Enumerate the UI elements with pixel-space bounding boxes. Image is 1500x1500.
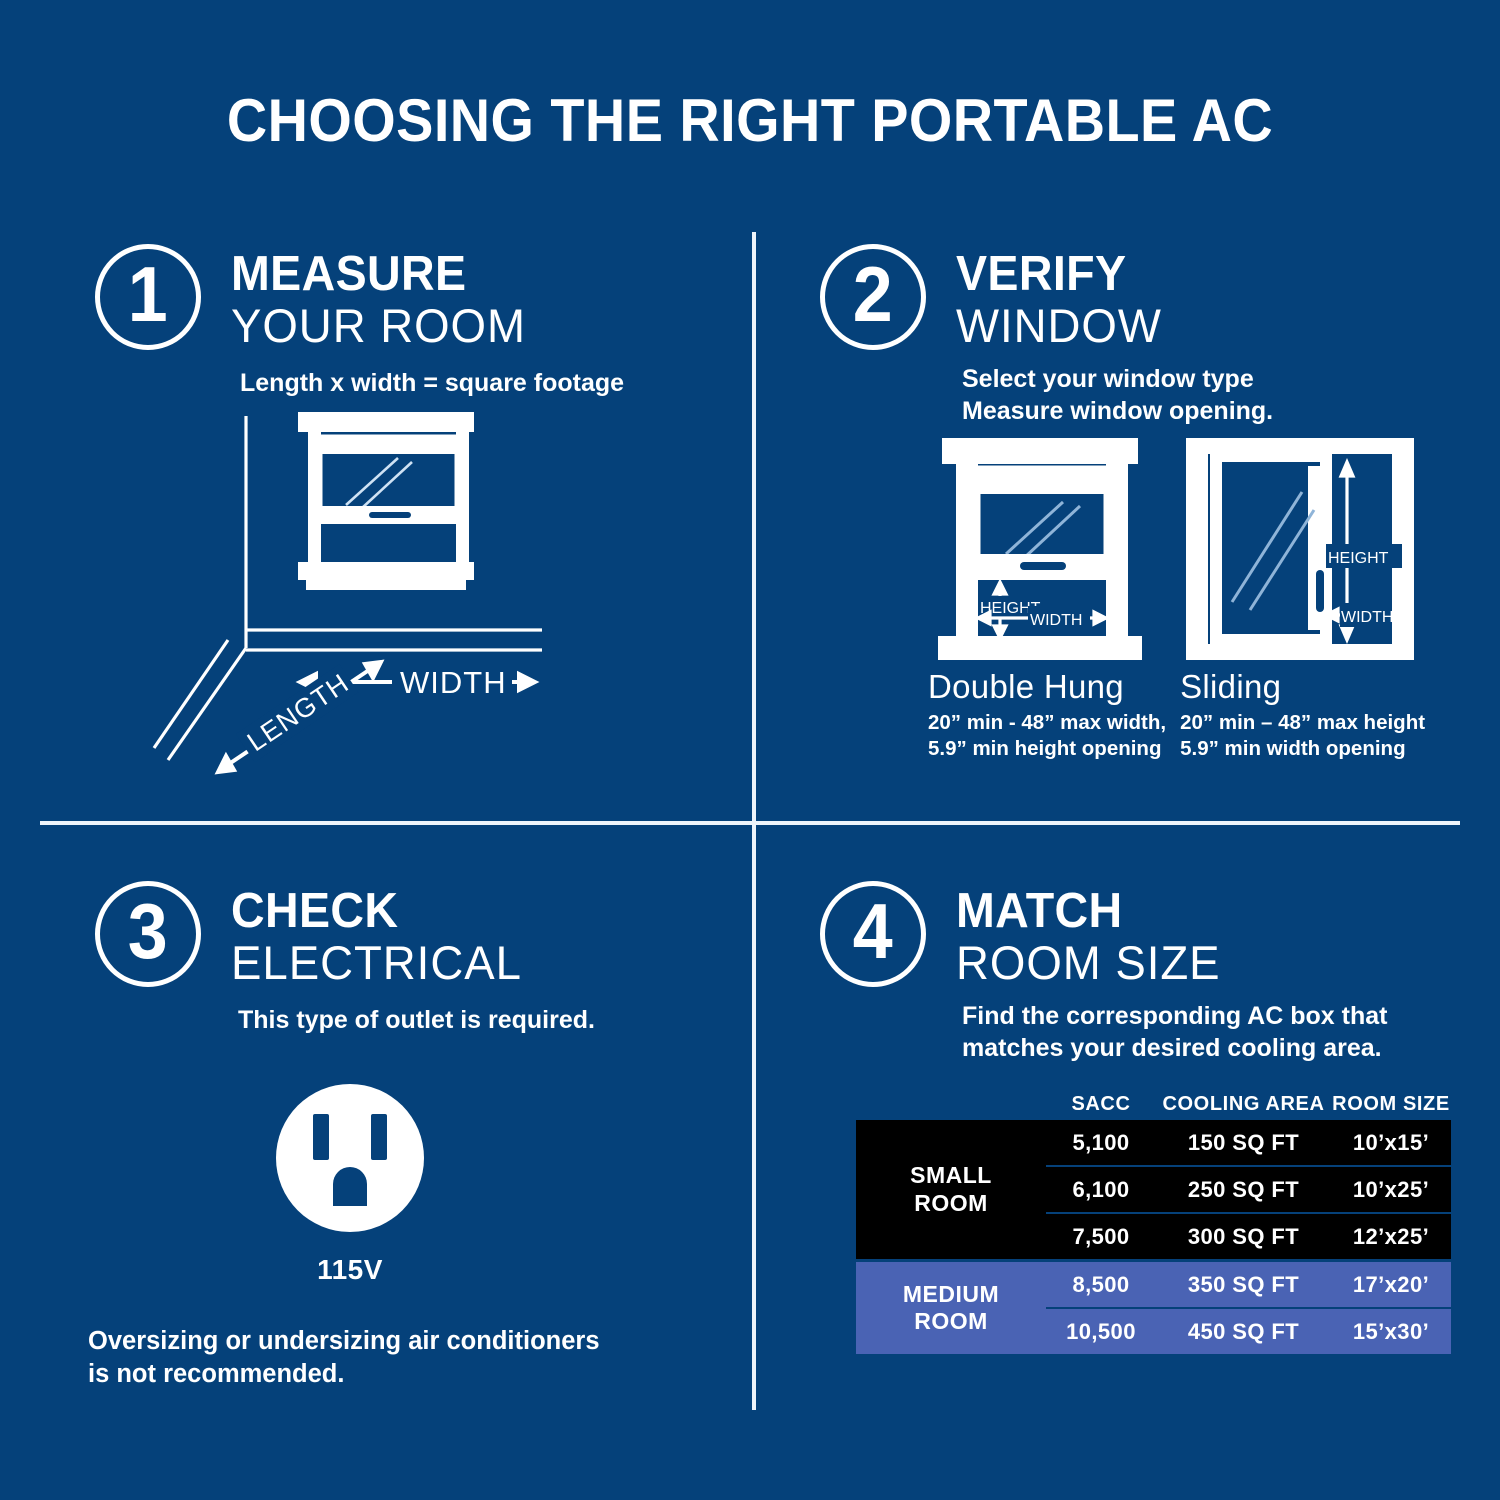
step-4-title-light: ROOM SIZE [956, 938, 1221, 987]
step-2-header: 2 VERIFY WINDOW [820, 244, 1168, 350]
cell-cooling-area: 450 SQ FT [1156, 1319, 1331, 1345]
step-2-title-block: VERIFY WINDOW [956, 244, 1168, 350]
group-rows-small-room: 5,100 150 SQ FT 10’x15’ 6,100 250 SQ FT … [1046, 1120, 1451, 1259]
cell-room-size: 10’x15’ [1331, 1130, 1451, 1156]
voltage-label: 115V [270, 1254, 430, 1286]
table-row[interactable]: 6,100 250 SQ FT 10’x25’ [1046, 1165, 1451, 1212]
step-2-title-light: WINDOW [956, 301, 1162, 350]
group-label-medium-room: MEDIUM ROOM [856, 1262, 1046, 1354]
step-3-title-block: CHECK ELECTRICAL [231, 881, 531, 987]
group-label-small-room-line-2: ROOM [910, 1190, 992, 1217]
oversizing-footnote-line-1: Oversizing or undersizing air conditione… [88, 1325, 600, 1358]
step-1-title-light: YOUR ROOM [231, 301, 526, 350]
step-3-subtitle: This type of outlet is required. [238, 1005, 595, 1036]
table-group-small-room[interactable]: SMALL ROOM 5,100 150 SQ FT 10’x15’ 6,100… [856, 1120, 1451, 1259]
double-hung-svg: HEIGHT WIDTH [928, 432, 1163, 664]
infographic-page: CHOOSING THE RIGHT PORTABLE AC 1 MEASURE… [0, 0, 1500, 1500]
step-number-badge-4: 4 [820, 881, 926, 987]
window-illustration [298, 412, 474, 590]
table-header-cooling-area: COOLING AREA [1156, 1093, 1331, 1116]
cell-sacc: 6,100 [1046, 1177, 1156, 1203]
group-label-small-room-line-1: SMALL [910, 1162, 992, 1189]
sliding-spec-line-1: 20” min – 48” max height [1180, 710, 1430, 736]
step-number-3: 3 [128, 892, 168, 970]
cell-cooling-area: 250 SQ FT [1156, 1177, 1331, 1203]
step-1-title-bold: MEASURE [231, 250, 520, 298]
step-1-title-block: MEASURE YOUR ROOM [231, 244, 535, 350]
table-row[interactable]: 8,500 350 SQ FT 17’x20’ [1046, 1262, 1451, 1307]
group-label-medium-room-line-1: MEDIUM [903, 1281, 999, 1308]
ac-sizing-table: SACC COOLING AREA ROOM SIZE SMALL ROOM 5… [856, 1093, 1451, 1357]
step-4-subtitle-line-2: matches your desired cooling area. [962, 1033, 1382, 1064]
cell-cooling-area: 150 SQ FT [1156, 1130, 1331, 1156]
step-number-1: 1 [128, 255, 168, 333]
cell-sacc: 7,500 [1046, 1224, 1156, 1250]
step-3-header: 3 CHECK ELECTRICAL [95, 881, 531, 987]
oversizing-footnote-line-2: is not recommended. [88, 1358, 600, 1391]
double-hung-spec-line-2: 5.9” min height opening [928, 736, 1166, 762]
step-4-header: 4 MATCH ROOM SIZE [820, 881, 1229, 987]
cell-room-size: 15’x30’ [1331, 1319, 1451, 1345]
cell-sacc: 5,100 [1046, 1130, 1156, 1156]
step-number-badge-1: 1 [95, 244, 201, 350]
table-header-group [856, 1093, 1046, 1116]
window-types-row: HEIGHT WIDTH Double Hung 20” min - 48” m… [928, 432, 1440, 762]
page-title: CHOOSING THE RIGHT PORTABLE AC [53, 86, 1448, 155]
table-header-sacc: SACC [1046, 1093, 1156, 1116]
table-header-row: SACC COOLING AREA ROOM SIZE [856, 1093, 1451, 1116]
step-number-badge-3: 3 [95, 881, 201, 987]
double-hung-width-label: WIDTH [1030, 612, 1082, 629]
oversizing-footnote: Oversizing or undersizing air conditione… [88, 1325, 600, 1391]
step-2-title-bold: VERIFY [956, 250, 1158, 298]
step-3-title-bold: CHECK [231, 887, 516, 935]
cell-room-size: 10’x25’ [1331, 1177, 1451, 1203]
table-row[interactable]: 5,100 150 SQ FT 10’x15’ [1046, 1120, 1451, 1165]
group-label-small-room: SMALL ROOM [856, 1120, 1046, 1259]
step-4-title-block: MATCH ROOM SIZE [956, 881, 1229, 987]
sliding-width-label: WIDTH [1341, 609, 1393, 626]
step-number-badge-2: 2 [820, 244, 926, 350]
sliding-height-label: HEIGHT [1328, 550, 1389, 567]
room-diagram-svg: WIDTH LENGTH [150, 400, 610, 780]
cell-sacc: 10,500 [1046, 1319, 1156, 1345]
sliding-name: Sliding [1180, 670, 1430, 703]
cell-room-size: 17’x20’ [1331, 1272, 1451, 1298]
cell-cooling-area: 350 SQ FT [1156, 1272, 1331, 1298]
step-4-panel: 4 MATCH ROOM SIZE Find the corresponding… [756, 825, 1500, 1425]
step-3-panel: 3 CHECK ELECTRICAL This type of outlet i… [0, 825, 752, 1425]
window-type-sliding[interactable]: HEIGHT WIDTH Sliding 20” min – 48” max h… [1180, 432, 1430, 762]
table-group-medium-room[interactable]: MEDIUM ROOM 8,500 350 SQ FT 17’x20’ 10,5… [856, 1262, 1451, 1354]
step-2-panel: 2 VERIFY WINDOW Select your window type … [756, 232, 1500, 822]
table-header-room-size: ROOM SIZE [1331, 1093, 1451, 1116]
window-type-double-hung[interactable]: HEIGHT WIDTH Double Hung 20” min - 48” m… [928, 432, 1166, 762]
double-hung-spec-line-1: 20” min - 48” max width, [928, 710, 1166, 736]
step-4-title-bold: MATCH [956, 887, 1215, 935]
cell-cooling-area: 300 SQ FT [1156, 1224, 1331, 1250]
step-2-subtitle-line-1: Select your window type [962, 364, 1254, 395]
room-measure-diagram: WIDTH LENGTH [150, 400, 610, 780]
step-1-panel: 1 MEASURE YOUR ROOM Length x width = squ… [0, 232, 752, 822]
sliding-svg: HEIGHT WIDTH [1180, 432, 1430, 664]
step-1-header: 1 MEASURE YOUR ROOM [95, 244, 535, 350]
table-row[interactable]: 10,500 450 SQ FT 15’x30’ [1046, 1307, 1451, 1354]
step-2-subtitle-line-2: Measure window opening. [962, 396, 1273, 427]
group-rows-medium-room: 8,500 350 SQ FT 17’x20’ 10,500 450 SQ FT… [1046, 1262, 1451, 1354]
cell-sacc: 8,500 [1046, 1272, 1156, 1298]
double-hung-name: Double Hung [928, 670, 1166, 703]
group-label-medium-room-line-2: ROOM [903, 1308, 999, 1335]
step-4-subtitle-line-1: Find the corresponding AC box that [962, 1001, 1387, 1032]
sliding-spec-line-2: 5.9” min width opening [1180, 736, 1430, 762]
outlet-illustration-wrap: 115V [270, 1080, 430, 1286]
outlet-icon [270, 1080, 430, 1240]
step-1-subtitle: Length x width = square footage [240, 368, 624, 399]
width-label: WIDTH [400, 665, 507, 700]
step-3-title-light: ELECTRICAL [231, 938, 522, 987]
cell-room-size: 12’x25’ [1331, 1224, 1451, 1250]
step-number-2: 2 [853, 255, 893, 333]
table-row[interactable]: 7,500 300 SQ FT 12’x25’ [1046, 1212, 1451, 1259]
step-number-4: 4 [853, 892, 893, 970]
